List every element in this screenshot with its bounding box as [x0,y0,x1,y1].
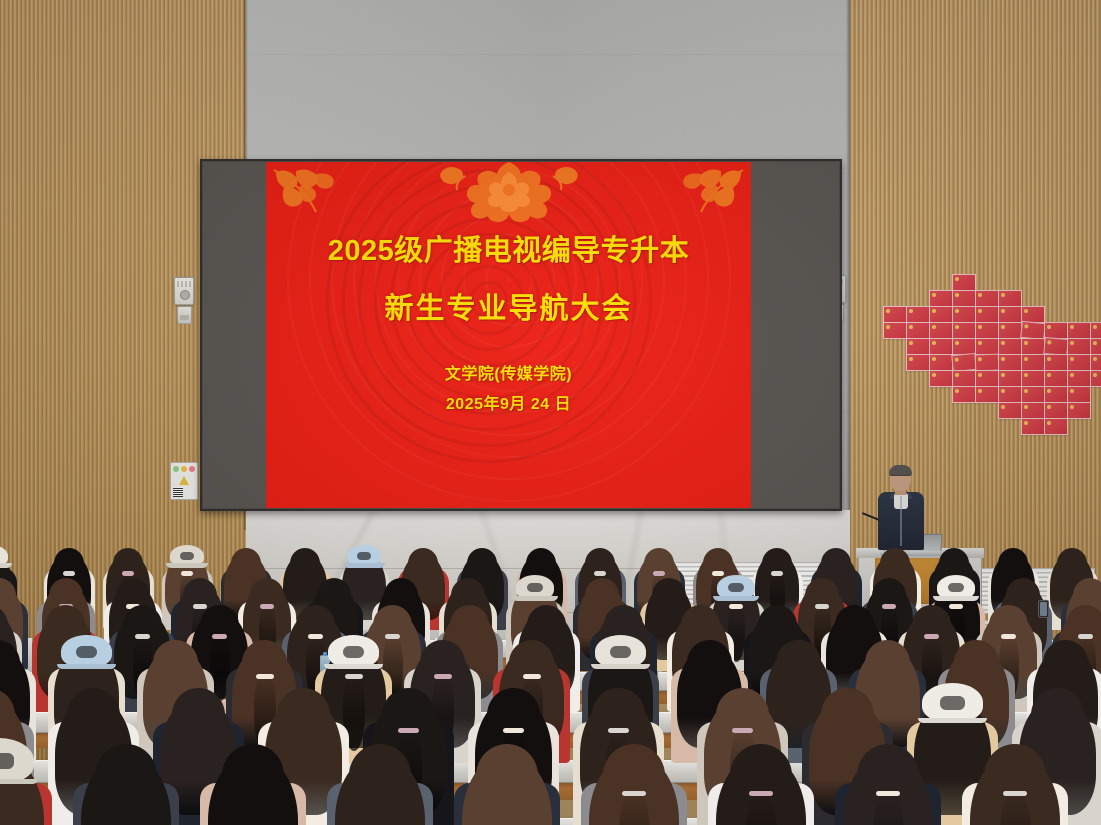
audience-member [349,744,411,825]
audience-head [450,605,489,645]
chinese-flag-tile [1067,386,1091,403]
chinese-flag-tile [1090,354,1101,371]
audience-member [730,744,792,825]
slide-subtitle-date: 2025年9月 24 日 [266,390,751,414]
motion-sensor-left [177,306,192,324]
smartphone [1038,600,1049,618]
audience-head [821,548,851,579]
chinese-flag-tile [975,386,999,403]
audience-head [277,688,330,742]
chinese-flag-tile [998,306,1022,323]
chinese-flag-tile [1021,338,1045,355]
control-knob-icon [180,290,190,300]
audience-head [222,744,284,807]
chinese-flag-tile [1044,370,1068,387]
chinese-flag-tile [952,322,976,339]
audience-member [222,744,284,825]
audience-head [67,688,120,742]
chinese-flag-tile [1090,338,1101,355]
safety-information-label [170,462,198,500]
audience-head [408,548,438,579]
chinese-flag-tile [1021,370,1045,387]
slide-subtitle-organizer: 文学院(传媒学院) [266,360,751,384]
audience-head [172,688,225,742]
chinese-flag-tile [1067,354,1091,371]
chinese-flag-tile [1044,386,1068,403]
audience-head [865,640,910,686]
audience-head [1057,548,1087,579]
chinese-flag-tile [1044,418,1068,435]
audience-head [880,548,910,579]
chinese-flag-tile [929,370,953,387]
chinese-flag-tile [998,370,1022,387]
audience-head [95,744,157,807]
chinese-flag-tile [952,386,976,403]
chinese-flag-tile [1067,338,1091,355]
chinese-flag-tile [998,338,1022,355]
chinese-flag-tile [1044,354,1068,371]
chinese-flag-tile [975,322,999,339]
chinese-flag-tile [906,338,930,355]
chinese-flag-tile [952,306,976,323]
audience-head [821,688,874,742]
presentation-slide: 2025级广播电视编导专升本 新生专业导航大会 文学院(传媒学院) 2025年9… [266,162,751,508]
chinese-flag-tile [906,306,930,323]
audience-head [1043,640,1088,686]
chinese-flag-tile [1021,418,1045,435]
audience-head [153,640,198,686]
audience-head [349,744,411,807]
audience-head [835,605,874,645]
chinese-flag-tile [1090,370,1101,387]
qr-code-icon [173,487,183,497]
wall-edge-right [846,0,850,530]
chinese-flag-tile [975,338,999,355]
chinese-flag-tile [883,322,907,339]
floral-corner-ornament-left [270,166,350,218]
chinese-flag-tile [998,386,1022,403]
warning-triangle-icon [179,476,189,485]
slide-text-block: 2025级广播电视编导专升本 新生专业导航大会 文学院(传媒学院) 2025年9… [266,236,751,414]
chinese-flag-tile [952,370,976,387]
chinese-flag-tile [975,370,999,387]
audience-head [526,548,556,579]
chinese-flag-tile [1021,386,1045,403]
control-buttons [177,281,191,287]
led-display-screen[interactable]: 2025级广播电视编导专升本 新生专业导航大会 文学院(传媒学院) 2025年9… [200,159,842,511]
peony-flower-ornament-center [431,162,587,222]
audience-head [467,548,497,579]
chinese-flag-mosaic-map [880,270,1100,480]
chinese-flag-tile [998,354,1022,371]
chinese-flag-tile [1021,402,1045,419]
audience-member [0,744,30,825]
audience-head [1031,688,1084,742]
chinese-flag-tile [906,354,930,371]
lecture-hall-photo: 2025级广播电视编导专升本 新生专业导航大会 文学院(传媒学院) 2025年9… [0,0,1101,825]
floral-corner-ornament-right [667,166,747,218]
audience-head [231,548,261,579]
audience-head [527,605,566,645]
chinese-flag-tile [883,306,907,323]
chinese-flag-tile [1067,370,1091,387]
chinese-flag-tile [929,306,953,323]
chinese-flag-tile [929,290,953,307]
audience-head [954,640,999,686]
slide-title-line-1: 2025级广播电视编导专升本 [266,236,751,268]
chinese-flag-tile [998,402,1022,419]
audience-head [476,744,538,807]
audience-head [687,640,732,686]
screen-inner-panel: 2025级广播电视编导专升本 新生专业导航大会 文学院(传媒学院) 2025年9… [203,162,839,508]
audience-head [290,548,320,579]
status-dots [173,466,195,472]
slide-title-line-2: 新生专业导航大会 [266,294,751,326]
chinese-flag-tile [1067,322,1091,339]
audience-member [984,744,1046,825]
chinese-flag-tile [929,338,953,355]
chinese-flag-tile [1067,402,1091,419]
chinese-flag-tile [906,322,930,339]
hvac-control-panel-left[interactable] [174,277,194,305]
audience-head [681,605,720,645]
audience-member [857,744,919,825]
chinese-flag-tile [929,322,953,339]
audience-head [998,548,1028,579]
chinese-flag-tile [975,354,1000,372]
audience-member [476,744,538,825]
audience-head [776,640,821,686]
chinese-flag-tile [1044,402,1068,419]
chinese-flag-tile [998,290,1022,307]
chinese-flag-tile [952,274,976,291]
chinese-flag-tile [998,322,1022,339]
chinese-flag-tile [975,290,999,307]
chinese-flag-tile [952,290,976,307]
chinese-flag-tile [1021,354,1045,371]
audience-head [758,605,797,645]
presenter-at-podium [878,466,924,550]
chinese-flag-tile [975,306,999,323]
audience-member [95,744,157,825]
chinese-flag-tile [929,354,953,371]
audience-head [939,548,969,579]
audience-member [603,744,665,825]
chinese-flag-tile [1090,322,1101,339]
